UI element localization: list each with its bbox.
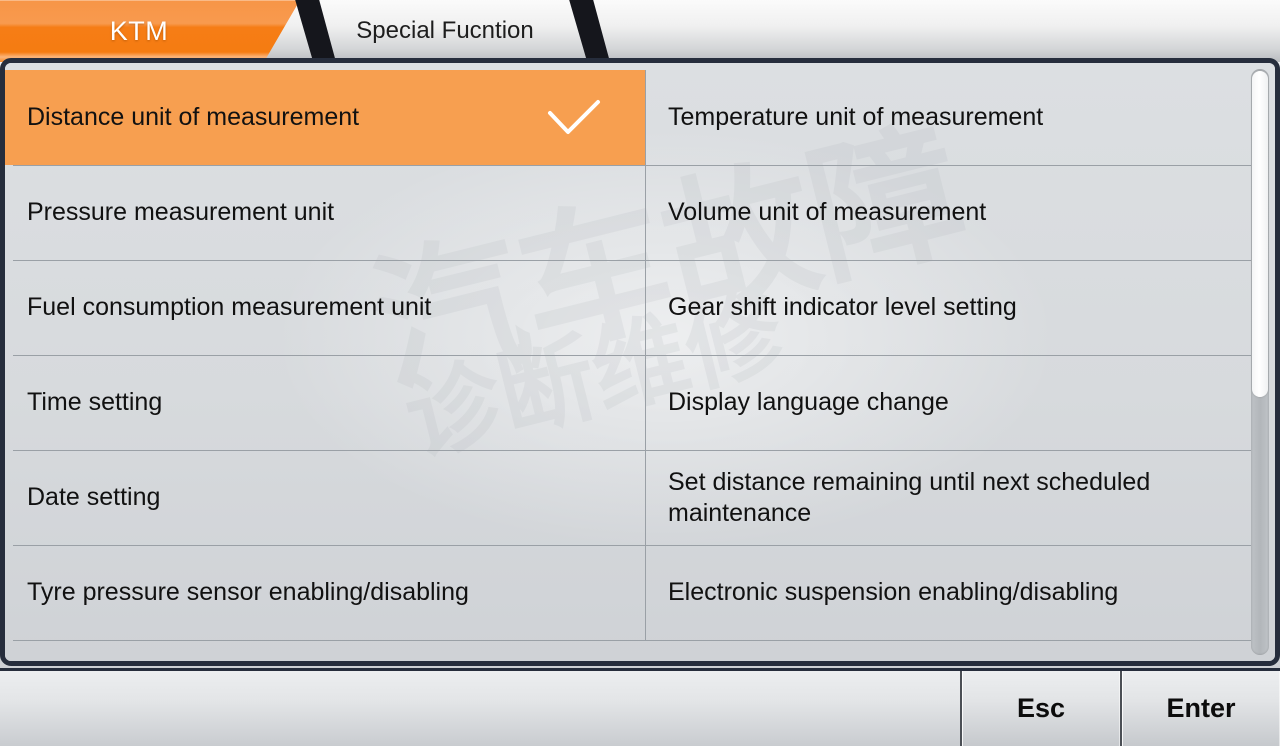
- list-item[interactable]: Date setting: [5, 450, 645, 545]
- tab-special-function[interactable]: Special Fucntion: [300, 0, 590, 62]
- list-row: Tyre pressure sensor enabling/disablingE…: [5, 545, 1275, 640]
- list-item-label: Fuel consumption measurement unit: [27, 292, 431, 323]
- list-item-label: Display language change: [668, 387, 949, 418]
- tab-special-function-label: Special Fucntion: [356, 17, 533, 45]
- list-item[interactable]: Display language change: [645, 355, 1275, 450]
- bottom-button-bar: Esc Enter: [0, 668, 1280, 746]
- special-function-screen: KTM Special Fucntion 汽车故障 诊断维修 Distance …: [0, 0, 1280, 746]
- list-item[interactable]: Distance unit of measurement: [5, 70, 645, 165]
- list-row: Time settingDisplay language change: [5, 355, 1275, 450]
- tab-bar: KTM Special Fucntion: [0, 0, 1280, 62]
- check-icon: [547, 99, 601, 137]
- list-item[interactable]: Electronic suspension enabling/disabling: [645, 545, 1275, 640]
- list-item-label: Volume unit of measurement: [668, 197, 986, 228]
- list-item-label: Gear shift indicator level setting: [668, 292, 1017, 323]
- function-list-surface: 汽车故障 诊断维修 Distance unit of measurementTe…: [5, 63, 1275, 661]
- list-item[interactable]: Tyre pressure sensor enabling/disabling: [5, 545, 645, 640]
- list-item[interactable]: Pressure measurement unit: [5, 165, 645, 260]
- list-item[interactable]: Fuel consumption measurement unit: [5, 260, 645, 355]
- list-item[interactable]: Set distance remaining until next schedu…: [645, 450, 1275, 545]
- list-item[interactable]: Volume unit of measurement: [645, 165, 1275, 260]
- list-item-label: Electronic suspension enabling/disabling: [668, 577, 1118, 608]
- row-divider: [13, 640, 1267, 641]
- scrollbar-thumb[interactable]: [1252, 71, 1268, 397]
- bottom-bar-spacer: [0, 671, 960, 746]
- list-item-label: Date setting: [27, 482, 160, 513]
- list-item[interactable]: Gear shift indicator level setting: [645, 260, 1275, 355]
- esc-button[interactable]: Esc: [960, 671, 1120, 746]
- list-item-label: Distance unit of measurement: [27, 102, 359, 133]
- list-row: Fuel consumption measurement unitGear sh…: [5, 260, 1275, 355]
- function-list: Distance unit of measurementTemperature …: [5, 63, 1275, 661]
- tab-ktm-label: KTM: [110, 16, 169, 47]
- list-item-label: Temperature unit of measurement: [668, 102, 1043, 133]
- list-row: Distance unit of measurementTemperature …: [5, 70, 1275, 165]
- tab-ktm[interactable]: KTM: [0, 0, 300, 62]
- list-item-label: Tyre pressure sensor enabling/disabling: [27, 577, 469, 608]
- list-item[interactable]: Temperature unit of measurement: [645, 70, 1275, 165]
- list-item-label: Set distance remaining until next schedu…: [668, 467, 1228, 528]
- list-row: Pressure measurement unitVolume unit of …: [5, 165, 1275, 260]
- function-list-panel: 汽车故障 诊断维修 Distance unit of measurementTe…: [0, 58, 1280, 666]
- list-row: Date settingSet distance remaining until…: [5, 450, 1275, 545]
- list-item-label: Pressure measurement unit: [27, 197, 334, 228]
- enter-button[interactable]: Enter: [1120, 671, 1280, 746]
- vertical-scrollbar[interactable]: [1251, 69, 1269, 655]
- list-item-label: Time setting: [27, 387, 162, 418]
- list-item[interactable]: Time setting: [5, 355, 645, 450]
